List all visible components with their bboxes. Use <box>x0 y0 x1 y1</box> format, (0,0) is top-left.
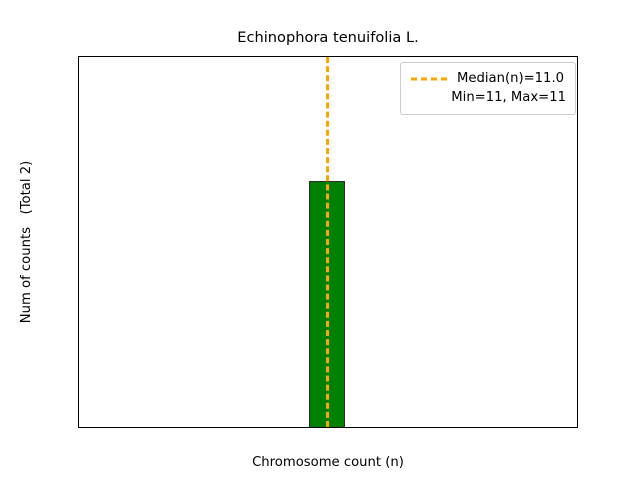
legend-label-minmax: Min=11, Max=11 <box>451 88 566 107</box>
legend-entry-minmax: Min=11, Max=11 <box>410 88 566 107</box>
legend-label-median: Median(n)=11.0 <box>457 69 564 88</box>
x-axis-label: Chromosome count (n) <box>78 455 578 470</box>
y-axis-label: Num of counts (Total 2) <box>18 56 36 428</box>
median-line <box>326 57 329 427</box>
chart-title: Echinophora tenuifolia L. <box>78 29 578 46</box>
chart-figure: Echinophora tenuifolia L. Num of counts … <box>0 0 640 480</box>
legend: Median(n)=11.0 Min=11, Max=11 <box>400 62 576 115</box>
dashed-line-icon <box>410 69 448 88</box>
legend-entry-median: Median(n)=11.0 <box>410 69 566 88</box>
